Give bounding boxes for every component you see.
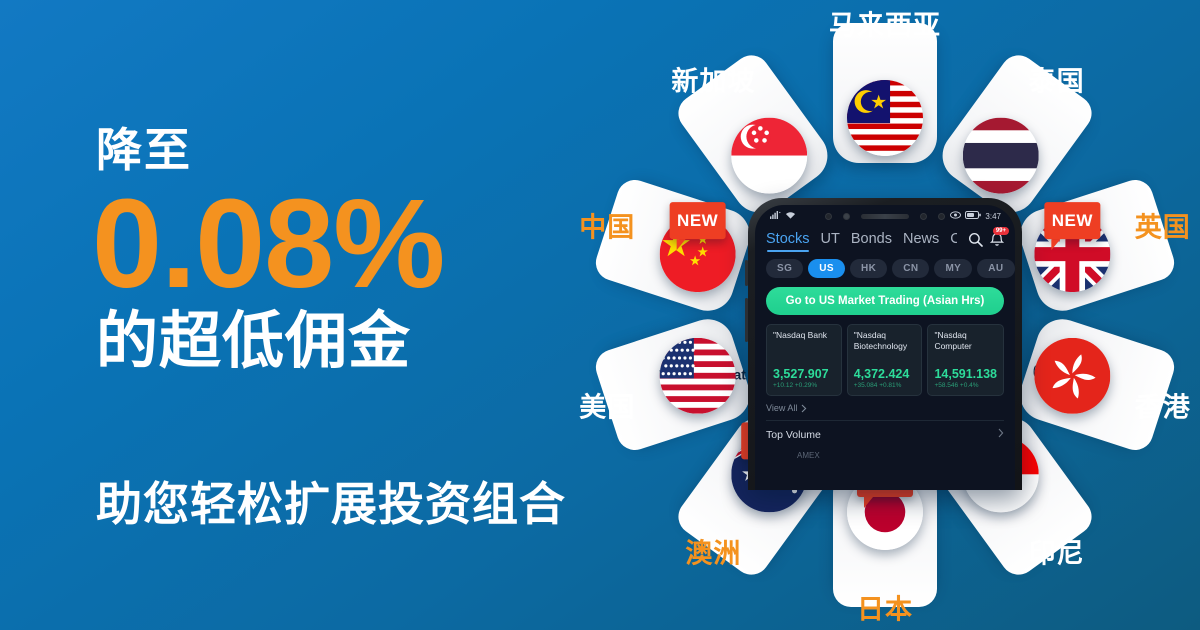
chevron-right-icon xyxy=(998,428,1004,441)
market-chip-sg[interactable]: SG xyxy=(766,259,803,278)
flag-hongkong-icon xyxy=(1034,338,1110,414)
index-value: 4,372.424 xyxy=(854,367,916,381)
country-label-indonesia: 印尼 xyxy=(1029,532,1085,571)
view-all-label: View All xyxy=(766,403,797,413)
index-delta: +58.546 +0.4% xyxy=(934,382,997,389)
index-name: "Nasdaq Computer xyxy=(934,330,997,351)
index-value: 14,591.138 xyxy=(934,367,997,381)
market-chip-row[interactable]: SGUSHKCNMYAUJ xyxy=(755,252,1015,278)
phone-mockup: 3:47 StocksUTBondsNewsC 99+ SGUSHKCNMYAU… xyxy=(748,198,1022,490)
country-label-australia: 澳洲 xyxy=(685,532,741,571)
tab-ut[interactable]: UT xyxy=(821,231,840,252)
top-volume-row[interactable]: Top Volume xyxy=(755,421,1015,441)
flag-usa-icon xyxy=(660,338,736,414)
status-bar: 3:47 xyxy=(755,205,1015,227)
tab-stocks[interactable]: Stocks xyxy=(766,231,810,252)
country-label-singapore: 新加坡 xyxy=(671,59,755,98)
country-label-hongkong: 香港 xyxy=(1135,386,1191,425)
headline-block: 降至 0.08% 的超低佣金 xyxy=(96,126,616,374)
country-label-usa: 美国 xyxy=(579,386,635,425)
chevron-right-icon xyxy=(801,404,807,413)
market-chip-my[interactable]: MY xyxy=(934,259,972,278)
index-name: "Nasdaq Biotechnology xyxy=(854,330,916,351)
index-card[interactable]: "Nasdaq Bank 3,527.907 +10.12 +0.29% xyxy=(766,324,842,396)
nav-tabs[interactable]: StocksUTBondsNewsC 99+ xyxy=(755,227,1015,252)
tab-news[interactable]: News xyxy=(903,231,939,252)
country-label-uk: 英国 xyxy=(1135,205,1191,244)
country-label-china: 中国 xyxy=(579,205,635,244)
market-chip-us[interactable]: US xyxy=(808,259,845,278)
index-delta: +10.12 +0.29% xyxy=(773,382,835,389)
market-chip-cn[interactable]: CN xyxy=(892,259,929,278)
cellular-signal-icon xyxy=(769,211,781,222)
new-badge-label: NEW xyxy=(1052,211,1093,231)
flag-malaysia-icon xyxy=(847,80,923,156)
search-icon[interactable] xyxy=(968,232,983,247)
tab-bonds[interactable]: Bonds xyxy=(851,231,892,252)
country-label-malaysia: 马来西亚 xyxy=(829,4,941,43)
wifi-icon xyxy=(785,211,796,222)
phone-screen: 3:47 StocksUTBondsNewsC 99+ SGUSHKCNMYAU… xyxy=(755,205,1015,490)
index-card-list: "Nasdaq Bank 3,527.907 +10.12 +0.29%"Nas… xyxy=(755,315,1015,396)
view-all-link[interactable]: View All xyxy=(755,396,1015,413)
exchange-label: AMEX xyxy=(755,441,1015,460)
top-volume-label: Top Volume xyxy=(766,429,821,441)
eye-icon xyxy=(950,211,961,221)
flag-singapore-icon xyxy=(731,118,807,194)
bell-icon[interactable]: 99+ xyxy=(990,232,1004,247)
country-label-japan: 日本 xyxy=(857,588,913,627)
battery-icon xyxy=(965,211,981,221)
us-market-trading-button[interactable]: Go to US Market Trading (Asian Hrs) xyxy=(766,287,1004,315)
new-badge-label: NEW xyxy=(677,211,718,231)
new-badge-uk: NEW xyxy=(1044,202,1100,239)
country-label-thailand: 泰国 xyxy=(1029,59,1085,98)
index-card[interactable]: "Nasdaq Biotechnology 4,372.424 +35.084 … xyxy=(847,324,923,396)
market-chip-au[interactable]: AU xyxy=(977,259,1014,278)
index-name: "Nasdaq Bank xyxy=(773,330,835,341)
market-chip-hk[interactable]: HK xyxy=(850,259,887,278)
notification-count: 99+ xyxy=(993,227,1009,235)
headline-subline: 的超低佣金 xyxy=(96,309,616,374)
status-time: 3:47 xyxy=(985,212,1001,221)
headline-number: 0.08% xyxy=(92,180,616,309)
headline-kicker: 降至 xyxy=(96,126,616,174)
index-card[interactable]: "Nasdaq Computer 14,591.138 +58.546 +0.4… xyxy=(927,324,1004,396)
tagline: 助您轻松扩展投资组合 xyxy=(96,468,566,534)
new-badge-china: NEW xyxy=(670,202,726,239)
index-value: 3,527.907 xyxy=(773,367,835,381)
index-delta: +35.084 +0.81% xyxy=(854,382,916,389)
flag-thailand-icon xyxy=(963,118,1039,194)
tab-c[interactable]: C xyxy=(950,231,957,252)
